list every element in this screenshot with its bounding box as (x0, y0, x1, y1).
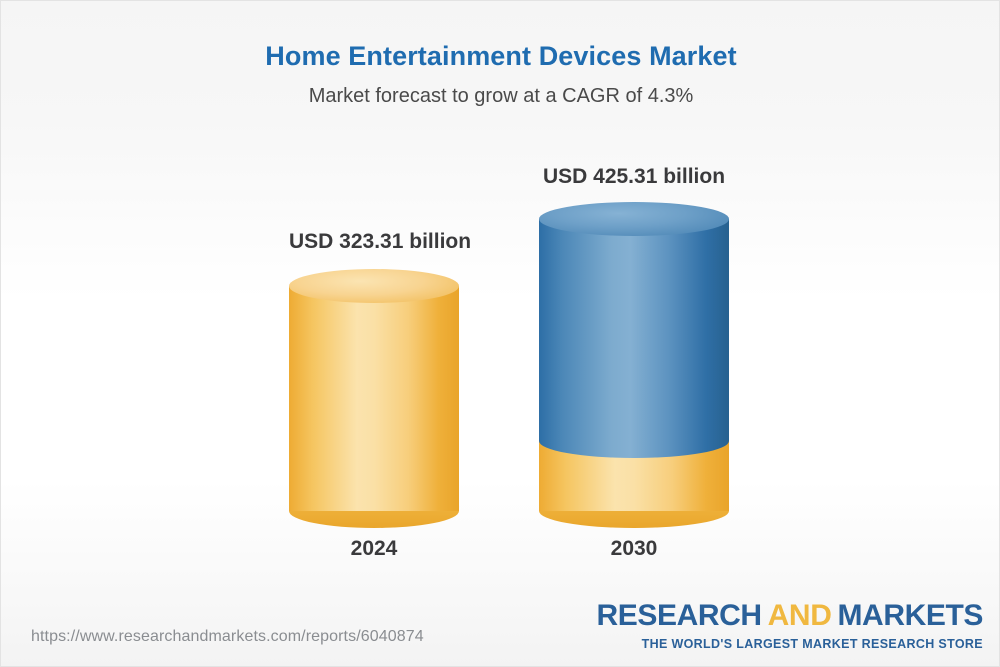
segment-body (289, 286, 459, 511)
segment-top-ellipse (539, 202, 729, 236)
logo-word-markets: MARKETS (837, 599, 983, 632)
value-label-2024: USD 323.31 billion (289, 229, 459, 255)
bar-segment-base (289, 286, 459, 511)
cylinder-2030[interactable] (539, 219, 729, 511)
category-label-2030: 2030 (539, 536, 729, 562)
segment-body (539, 219, 729, 441)
logo-word-research: RESEARCH (597, 599, 762, 632)
report-url[interactable]: https://www.researchandmarkets.com/repor… (31, 627, 424, 647)
logo-tagline: THE WORLD'S LARGEST MARKET RESEARCH STOR… (597, 636, 983, 652)
logo-word-and: AND (768, 599, 832, 632)
category-label-2024: 2024 (289, 536, 459, 562)
plot-area: USD 323.31 billion 2024 USD 425.31 billi… (1, 1, 1000, 667)
chart-page: Home Entertainment Devices Market Market… (0, 0, 1000, 667)
bar-segment-growth (539, 219, 729, 441)
bar-group-2024: USD 323.31 billion 2024 (289, 151, 459, 561)
cylinder-2024[interactable] (289, 286, 459, 511)
bar-group-2030: USD 425.31 billion 2030 (539, 151, 729, 561)
value-label-2030: USD 425.31 billion (539, 164, 729, 190)
segment-top-ellipse (289, 269, 459, 303)
logo-wordmark: RESEARCHANDMARKETS (597, 600, 983, 632)
research-and-markets-logo[interactable]: RESEARCHANDMARKETS THE WORLD'S LARGEST M… (597, 600, 983, 652)
